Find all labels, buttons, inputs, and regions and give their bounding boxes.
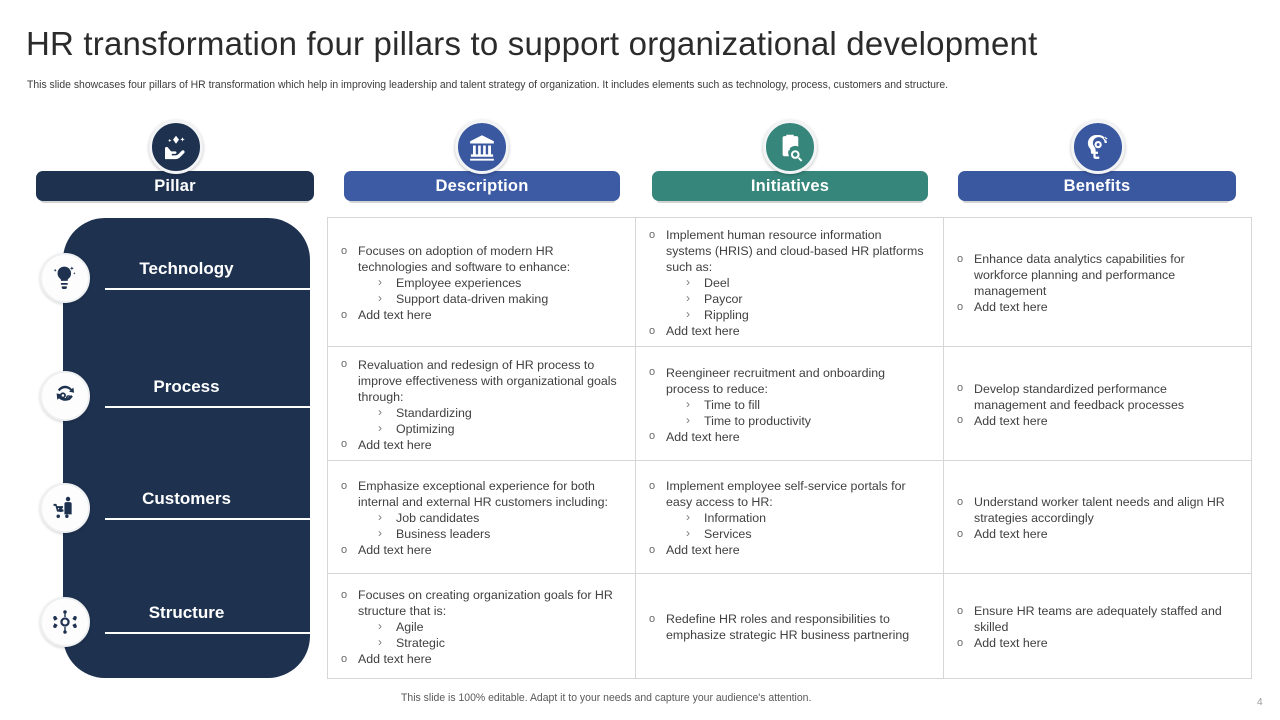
sub-bullet-list: Time to fill Time to productivity: [666, 397, 929, 429]
bullet-list: Redefine HR roles and responsibilities t…: [646, 611, 929, 643]
pillar-label-process: Process: [63, 377, 310, 397]
list-item: Focuses on adoption of modern HR technol…: [338, 243, 621, 307]
lightbulb-gear-icon: [40, 253, 90, 303]
pillar-divider: [105, 518, 310, 520]
pillar-label-customers: Customers: [63, 489, 310, 509]
column-header-description[interactable]: Description: [344, 171, 620, 201]
table-cell-description-customers: Emphasize exceptional experience for bot…: [328, 461, 636, 574]
bullet-text: Revaluation and redesign of HR process t…: [358, 358, 617, 404]
table-cell-benefits-structure: Ensure HR teams are adequately staffed a…: [944, 574, 1251, 678]
pillar-item-structure[interactable]: Structure: [63, 569, 310, 684]
bullet-list: Develop standardized performance managem…: [954, 381, 1237, 429]
page-subtitle: This slide showcases four pillars of HR …: [27, 78, 1152, 93]
bullet-list: Revaluation and redesign of HR process t…: [338, 357, 621, 453]
list-item: Understand worker talent needs and align…: [954, 494, 1237, 526]
sub-list-item: Information: [684, 510, 929, 526]
sub-list-item: Time to productivity: [684, 413, 929, 429]
column-header-initiatives[interactable]: Initiatives: [652, 171, 928, 201]
bullet-text: Focuses on creating organization goals f…: [358, 588, 613, 618]
sub-list-item: Optimizing: [376, 421, 621, 437]
list-item: Emphasize exceptional experience for bot…: [338, 478, 621, 542]
table-cell-benefits-process: Develop standardized performance managem…: [944, 347, 1251, 461]
pillar-label-structure: Structure: [63, 603, 310, 623]
sub-list-item: Rippling: [684, 307, 929, 323]
sub-list-item: Services: [684, 526, 929, 542]
gears-cycle-icon: [40, 371, 90, 421]
table-cell-initiatives-customers: Implement employee self-service portals …: [636, 461, 944, 574]
bullet-text: Implement employee self-service portals …: [666, 479, 906, 509]
list-item: Add text here: [954, 413, 1237, 429]
pillar-divider: [105, 632, 310, 634]
bullet-list: Focuses on adoption of modern HR technol…: [338, 243, 621, 323]
sub-list-item: Paycor: [684, 291, 929, 307]
bullet-text: Reengineer recruitment and onboarding pr…: [666, 366, 885, 396]
sub-bullet-list: Employee experiences Support data-driven…: [358, 275, 621, 307]
list-item: Implement human resource information sys…: [646, 227, 929, 323]
bullet-list: Ensure HR teams are adequately staffed a…: [954, 603, 1237, 651]
sub-list-item: Job candidates: [376, 510, 621, 526]
bullet-list: Implement employee self-service portals …: [646, 478, 929, 558]
footer-note: This slide is 100% editable. Adapt it to…: [401, 692, 811, 704]
list-item: Add text here: [338, 542, 621, 558]
column-header-initiatives-label: Initiatives: [751, 177, 829, 196]
table-cell-initiatives-structure: Redefine HR roles and responsibilities t…: [636, 574, 944, 678]
list-item: Add text here: [954, 526, 1237, 542]
sub-list-item: Employee experiences: [376, 275, 621, 291]
table-cell-description-technology: Focuses on adoption of modern HR technol…: [328, 218, 636, 347]
list-item: Implement employee self-service portals …: [646, 478, 929, 542]
list-item: Add text here: [954, 299, 1237, 315]
clipboard-search-icon: [763, 120, 817, 174]
list-item: Add text here: [954, 635, 1237, 651]
bullet-list: Reengineer recruitment and onboarding pr…: [646, 365, 929, 445]
slide-canvas: HR transformation four pillars to suppor…: [0, 0, 1280, 720]
sub-list-item: Deel: [684, 275, 929, 291]
bullet-list: Implement human resource information sys…: [646, 227, 929, 339]
sub-bullet-list: Agile Strategic: [358, 619, 621, 651]
table-cell-benefits-technology: Enhance data analytics capabilities for …: [944, 218, 1251, 347]
content-table: Focuses on adoption of modern HR technol…: [327, 217, 1252, 679]
bullet-text: Implement human resource information sys…: [666, 228, 924, 274]
list-item: Focuses on creating organization goals f…: [338, 587, 621, 651]
sub-list-item: Business leaders: [376, 526, 621, 542]
sub-list-item: Time to fill: [684, 397, 929, 413]
pillar-divider: [105, 406, 310, 408]
pillar-divider: [105, 288, 310, 290]
pillar-label-technology: Technology: [63, 259, 310, 279]
pillar-item-process[interactable]: Process: [63, 343, 310, 458]
column-header-description-label: Description: [436, 177, 529, 196]
sub-list-item: Agile: [376, 619, 621, 635]
bullet-list: Understand worker talent needs and align…: [954, 494, 1237, 542]
page-title: HR transformation four pillars to suppor…: [26, 24, 1256, 64]
table-cell-description-process: Revaluation and redesign of HR process t…: [328, 347, 636, 461]
list-item: Add text here: [646, 429, 929, 445]
hands-diamond-icon: [149, 120, 203, 174]
sub-list-item: Support data-driven making: [376, 291, 621, 307]
bullet-text: Emphasize exceptional experience for bot…: [358, 479, 608, 509]
column-header-pillar-label: Pillar: [154, 177, 196, 196]
bullet-list: Enhance data analytics capabilities for …: [954, 251, 1237, 315]
list-item: Add text here: [338, 651, 621, 667]
list-item: Ensure HR teams are adequately staffed a…: [954, 603, 1237, 635]
head-gear-idea-icon: [1071, 120, 1125, 174]
list-item: Add text here: [646, 323, 929, 339]
sub-bullet-list: Information Services: [666, 510, 929, 542]
bullet-list: Emphasize exceptional experience for bot…: [338, 478, 621, 558]
pillar-item-customers[interactable]: Customers: [63, 455, 310, 570]
bullet-text: Focuses on adoption of modern HR technol…: [358, 244, 570, 274]
table-cell-initiatives-process: Reengineer recruitment and onboarding pr…: [636, 347, 944, 461]
pillar-item-technology[interactable]: Technology: [63, 225, 310, 340]
list-item: Redefine HR roles and responsibilities t…: [646, 611, 929, 643]
table-cell-benefits-customers: Understand worker talent needs and align…: [944, 461, 1251, 574]
list-item: Enhance data analytics capabilities for …: [954, 251, 1237, 299]
sub-bullet-list: Standardizing Optimizing: [358, 405, 621, 437]
column-header-benefits-label: Benefits: [1064, 177, 1131, 196]
bank-building-icon: [455, 120, 509, 174]
list-item: Add text here: [338, 307, 621, 323]
table-cell-initiatives-technology: Implement human resource information sys…: [636, 218, 944, 347]
sub-bullet-list: Job candidates Business leaders: [358, 510, 621, 542]
column-header-pillar[interactable]: Pillar: [36, 171, 314, 201]
table-cell-description-structure: Focuses on creating organization goals f…: [328, 574, 636, 678]
column-header-benefits[interactable]: Benefits: [958, 171, 1236, 201]
list-item: Reengineer recruitment and onboarding pr…: [646, 365, 929, 429]
sub-list-item: Standardizing: [376, 405, 621, 421]
gear-network-icon: [40, 597, 90, 647]
list-item: Add text here: [646, 542, 929, 558]
list-item: Add text here: [338, 437, 621, 453]
page-number: 4: [1257, 697, 1263, 708]
sub-bullet-list: Deel Paycor Rippling: [666, 275, 929, 323]
bullet-list: Focuses on creating organization goals f…: [338, 587, 621, 667]
person-cart-icon: [40, 483, 90, 533]
list-item: Develop standardized performance managem…: [954, 381, 1237, 413]
list-item: Revaluation and redesign of HR process t…: [338, 357, 621, 437]
sub-list-item: Strategic: [376, 635, 621, 651]
